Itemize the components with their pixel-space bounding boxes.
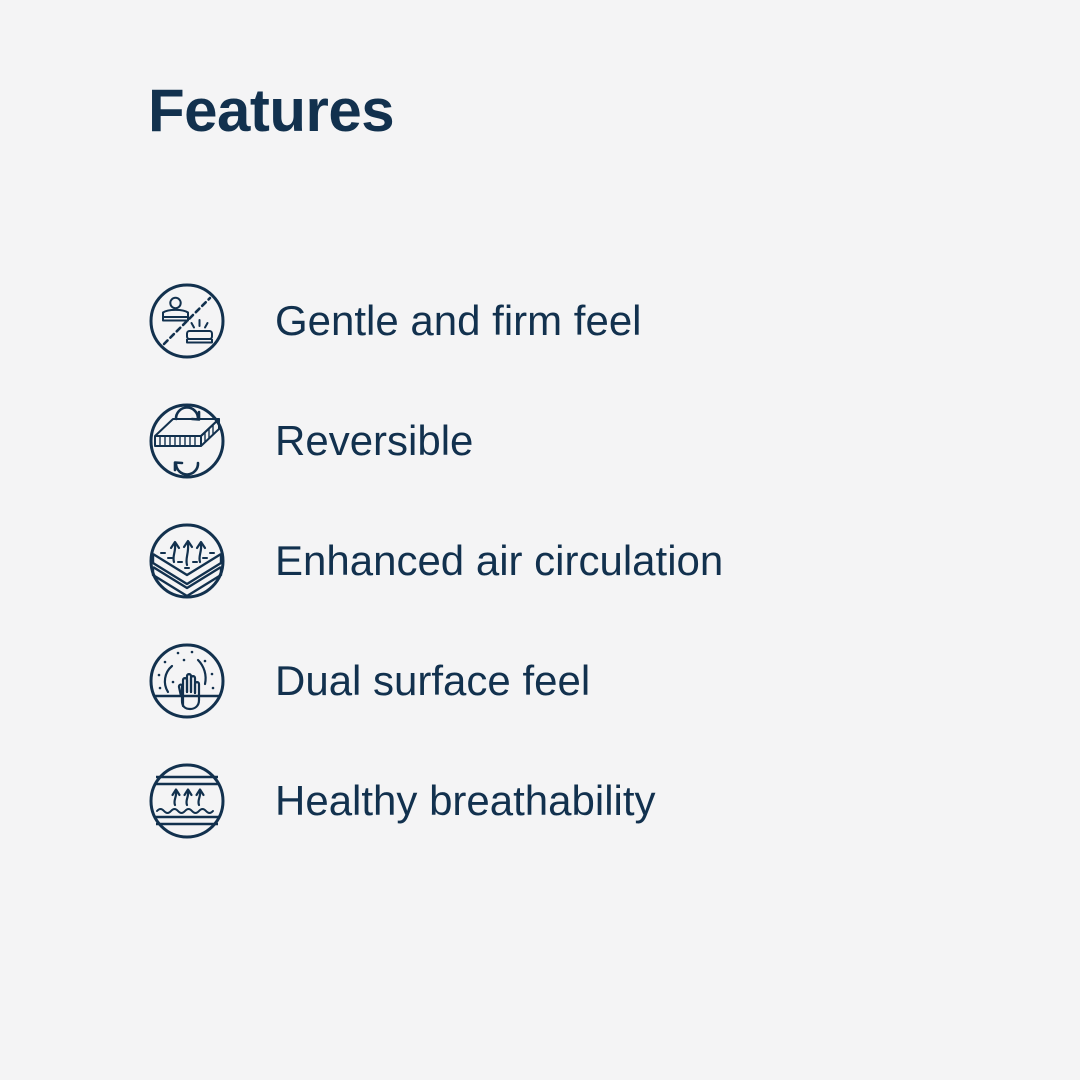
feature-item-dual-surface-feel: Dual surface feel — [148, 642, 1048, 720]
feature-item-gentle-and-firm-feel: Gentle and firm feel — [148, 282, 1048, 360]
feature-item-breathability: Healthy breathability — [148, 762, 1048, 840]
feature-label: Enhanced air circulation — [275, 540, 723, 582]
dual-surface-feel-icon — [148, 642, 226, 720]
gentle-and-firm-feel-icon — [148, 282, 226, 360]
feature-label: Reversible — [275, 420, 473, 462]
feature-label: Gentle and firm feel — [275, 300, 642, 342]
feature-label: Healthy breathability — [275, 780, 656, 822]
breathability-icon — [148, 762, 226, 840]
air-circulation-icon — [148, 522, 226, 600]
features-card: Features — [0, 0, 1080, 1080]
features-list: Gentle and firm feel — [148, 282, 1048, 840]
feature-label: Dual surface feel — [275, 660, 590, 702]
feature-item-air-circulation: Enhanced air circulation — [148, 522, 1048, 600]
page-title: Features — [148, 78, 394, 144]
feature-item-reversible: Reversible — [148, 402, 1048, 480]
reversible-icon — [148, 402, 226, 480]
